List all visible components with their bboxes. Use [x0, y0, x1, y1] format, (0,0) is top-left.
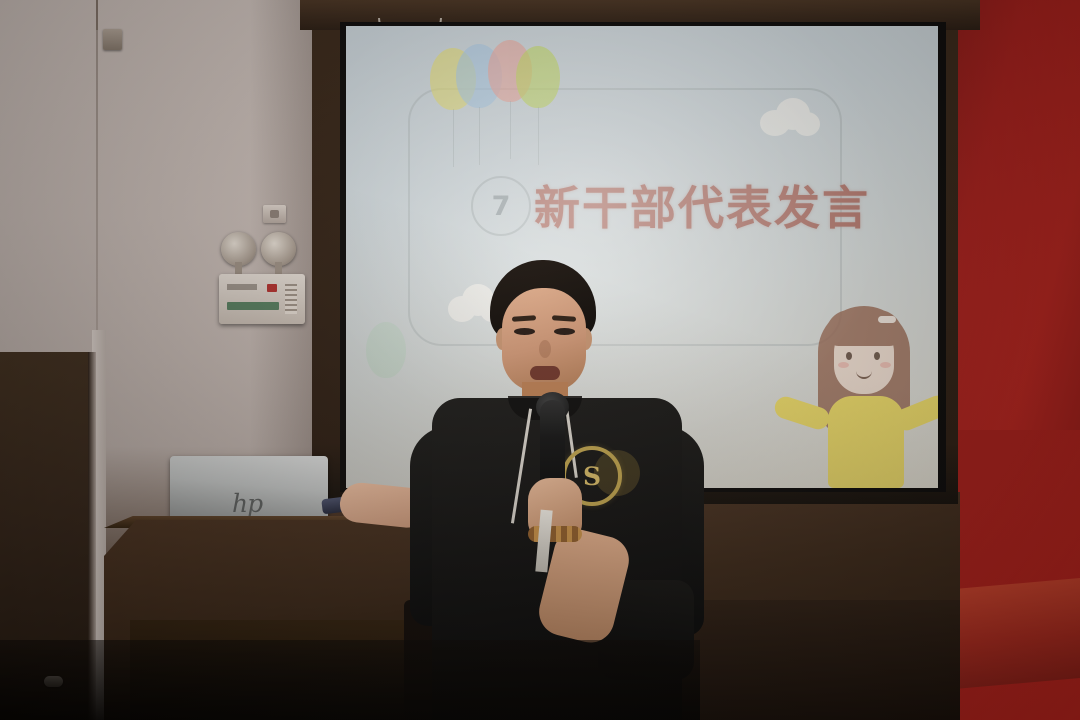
balloon-string [538, 107, 539, 165]
wall-outlet-icon[interactable] [263, 205, 286, 223]
emergency-light [219, 232, 305, 324]
balloon-string [479, 107, 480, 165]
slide-number-badge: 7 [471, 176, 531, 236]
girl-blush-right [880, 362, 891, 368]
lamp-head-right-icon [261, 232, 296, 266]
girl-blush-left [838, 362, 849, 368]
speaker-nose [539, 340, 551, 358]
girl-eye-right [874, 352, 880, 360]
cartoon-girl-illustration [798, 298, 934, 488]
emergency-light-label [227, 284, 257, 290]
balloon-string [510, 101, 511, 159]
cloud-top-right-icon [760, 96, 822, 140]
speaker-mouth [530, 366, 560, 380]
slide-title: 新干部代表发言 [534, 172, 894, 238]
girl-hair-clip-icon [878, 316, 896, 323]
balloon-green-icon [516, 46, 560, 108]
sensor-cord [96, 0, 98, 30]
emergency-light-body [219, 274, 305, 324]
wall-sensor-box-icon [103, 29, 122, 50]
laptop-brand-logo: hp [232, 489, 262, 518]
status-led-green-icon [227, 302, 279, 310]
girl-eye-left [846, 352, 852, 360]
screenshot-root: 7 新干部代表发言 hp [0, 0, 1080, 720]
speaker-eye-left [514, 328, 535, 335]
beaded-bracelet-icon [528, 526, 582, 542]
status-led-red-icon [267, 284, 277, 292]
foreground-shadow [0, 640, 700, 720]
lamp-head-left-icon [221, 232, 256, 266]
vent-grille-icon [285, 284, 297, 314]
girl-shirt [828, 396, 904, 488]
balloon-string [453, 109, 454, 167]
speaker-eye-right [554, 328, 575, 335]
